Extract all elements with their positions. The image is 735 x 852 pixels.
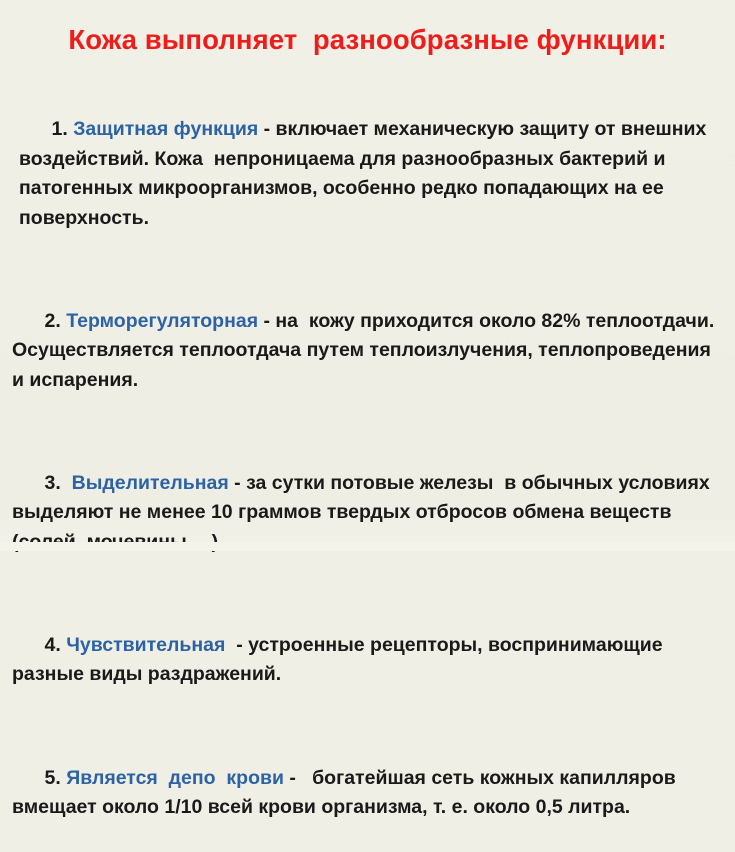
item-term: Выделительная bbox=[61, 472, 229, 494]
slide-canvas: Кожа выполняет разнообразные функции: 1.… bbox=[0, 0, 735, 551]
list-item: 1. Защитная функция - включает механичес… bbox=[12, 86, 718, 262]
item-number: 5. bbox=[45, 767, 61, 789]
item-number: 2. bbox=[45, 310, 61, 332]
list-item: 4. Чувствительная - устроенные рецепторы… bbox=[12, 602, 718, 720]
list-item: 5. Является депо крови - богатейшая сеть… bbox=[12, 734, 718, 852]
item-number: 3. bbox=[45, 472, 61, 494]
bottom-edge-strip bbox=[0, 542, 735, 551]
item-term: Терморегуляторная bbox=[61, 310, 258, 332]
item-term: Чувствительная bbox=[61, 634, 231, 656]
page-title: Кожа выполняет разнообразные функции: bbox=[0, 23, 735, 57]
item-number: 1. bbox=[52, 118, 68, 140]
item-number: 4. bbox=[45, 634, 61, 656]
list-item: 2. Терморегуляторная - на кожу приходитс… bbox=[12, 277, 718, 424]
list-item: 3. Выделительная - за сутки потовые желе… bbox=[12, 439, 718, 586]
functions-list: 1. Защитная функция - включает механичес… bbox=[12, 86, 718, 852]
item-term: Является депо крови bbox=[61, 767, 284, 789]
item-term: Защитная функция bbox=[68, 118, 258, 140]
